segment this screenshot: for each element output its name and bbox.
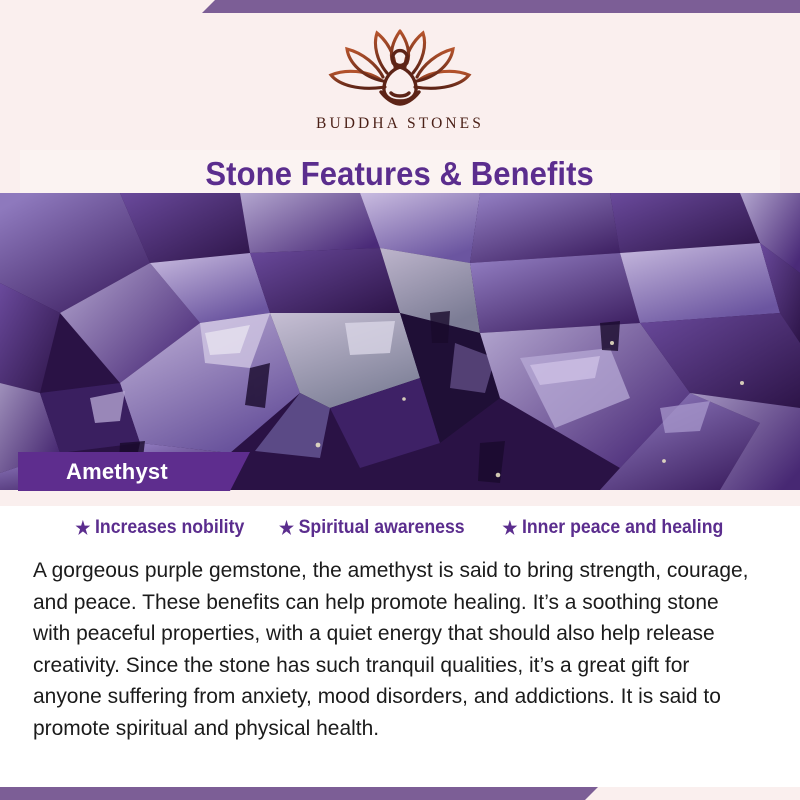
- divider-strip: [0, 490, 800, 506]
- header: BUDDHA STONES Stone Features & Benefits: [0, 13, 800, 193]
- benefit-item-0: ★ Increases nobility: [75, 517, 244, 539]
- benefits-row: ★ Increases nobility ★ Spiritual awarene…: [0, 517, 800, 539]
- benefit-label: Inner peace and healing: [522, 517, 723, 539]
- benefit-label: Increases nobility: [95, 517, 244, 539]
- stone-name: Amethyst: [66, 459, 168, 485]
- page-title: Stone Features & Benefits: [206, 155, 594, 193]
- stone-description: A gorgeous purple gemstone, the amethyst…: [33, 555, 755, 744]
- star-icon: ★: [502, 519, 517, 537]
- amethyst-crystal-illustration: [0, 193, 800, 490]
- infographic-page: BUDDHA STONES Stone Features & Benefits: [0, 0, 800, 800]
- title-band: Stone Features & Benefits: [20, 150, 780, 198]
- content-panel: ★ Increases nobility ★ Spiritual awarene…: [0, 506, 800, 787]
- benefit-item-2: ★ Inner peace and healing: [502, 517, 723, 539]
- lotus-meditation-figure-icon: [315, 25, 485, 111]
- benefit-label: Spiritual awareness: [299, 517, 465, 539]
- frame-bottom-bar: [0, 787, 800, 800]
- brand-name: BUDDHA STONES: [316, 115, 484, 133]
- amethyst-photo: [0, 193, 800, 490]
- stone-name-banner: Amethyst: [18, 452, 250, 491]
- star-icon: ★: [279, 519, 294, 537]
- brand-logo: BUDDHA STONES: [0, 25, 800, 133]
- star-icon: ★: [75, 519, 90, 537]
- frame-top-bar: [0, 0, 800, 13]
- benefit-item-1: ★ Spiritual awareness: [279, 517, 465, 539]
